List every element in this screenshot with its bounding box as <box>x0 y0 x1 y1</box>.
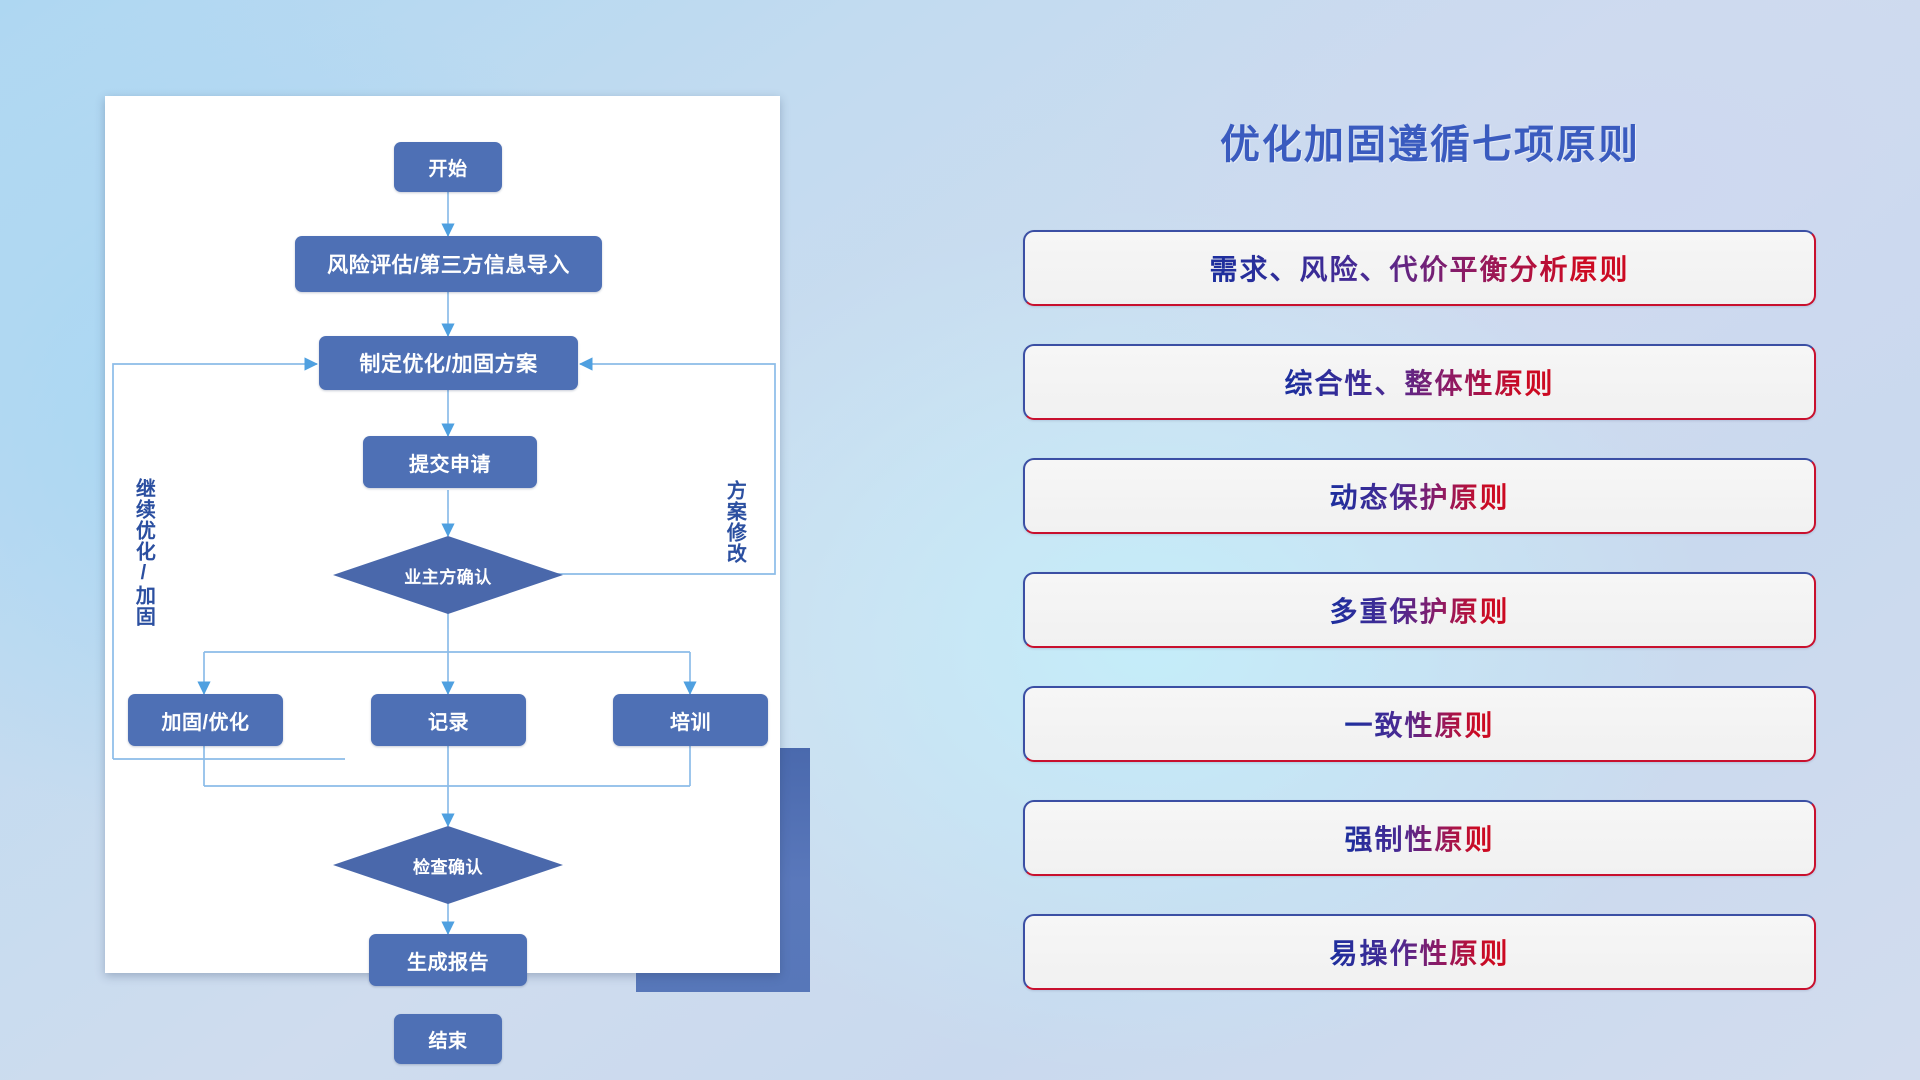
flow-node-generate-report-label: 生成报告 <box>407 946 489 975</box>
flow-decision-owner-confirm[interactable]: 业主方确认 <box>333 536 563 614</box>
flow-node-submit-application[interactable]: 提交申请 <box>363 436 537 488</box>
flow-node-reinforce[interactable]: 加固/优化 <box>128 694 283 746</box>
flow-node-submit-application-label: 提交申请 <box>409 448 491 477</box>
flow-node-start[interactable]: 开始 <box>394 142 502 192</box>
flow-node-make-plan[interactable]: 制定优化/加固方案 <box>319 336 578 390</box>
flow-node-start-label: 开始 <box>428 154 467 181</box>
principle-card[interactable]: 强制性原则 <box>1023 800 1816 876</box>
principle-label: 综合性、整体性原则 <box>1284 362 1554 402</box>
page-title: 优化加固遵循七项原则 <box>1030 112 1830 170</box>
principle-card[interactable]: 易操作性原则 <box>1023 914 1816 990</box>
principle-card[interactable]: 需求、风险、代价平衡分析原则 <box>1023 230 1816 306</box>
principle-label: 强制性原则 <box>1344 818 1494 858</box>
principle-label: 一致性原则 <box>1344 704 1494 744</box>
flow-node-training[interactable]: 培训 <box>613 694 768 746</box>
flow-node-end-label: 结束 <box>428 1026 467 1053</box>
principle-card[interactable]: 综合性、整体性原则 <box>1023 344 1816 420</box>
flowchart-panel: 开始 风险评估/第三方信息导入 制定优化/加固方案 提交申请 业主方确认 加固/… <box>105 96 780 973</box>
principle-card[interactable]: 动态保护原则 <box>1023 458 1816 534</box>
slide-canvas: 开始 风险评估/第三方信息导入 制定优化/加固方案 提交申请 业主方确认 加固/… <box>0 0 1920 1080</box>
principle-label: 动态保护原则 <box>1329 476 1509 516</box>
flow-decision-check-confirm[interactable]: 检查确认 <box>333 826 563 904</box>
principle-card[interactable]: 多重保护原则 <box>1023 572 1816 648</box>
flow-node-record-label: 记录 <box>428 706 469 735</box>
flow-decision-owner-confirm-label: 业主方确认 <box>404 563 492 588</box>
flow-node-reinforce-label: 加固/优化 <box>161 706 249 735</box>
flow-node-end[interactable]: 结束 <box>394 1014 502 1064</box>
principle-label: 需求、风险、代价平衡分析原则 <box>1209 248 1629 288</box>
flow-node-make-plan-label: 制定优化/加固方案 <box>359 348 537 378</box>
flow-node-training-label: 培训 <box>670 706 711 735</box>
principles-list: 需求、风险、代价平衡分析原则 综合性、整体性原则 动态保护原则 多重保护原则 一… <box>1023 230 1816 1028</box>
flow-edge-label-right-loop: 方案修改 <box>724 480 744 564</box>
flow-node-record[interactable]: 记录 <box>371 694 526 746</box>
flow-edge-label-left-loop: 继续优化/加固 <box>133 478 153 627</box>
principle-card[interactable]: 一致性原则 <box>1023 686 1816 762</box>
flow-node-generate-report[interactable]: 生成报告 <box>369 934 527 986</box>
principle-label: 易操作性原则 <box>1329 932 1509 972</box>
flow-node-risk-assessment[interactable]: 风险评估/第三方信息导入 <box>295 236 602 292</box>
flow-node-risk-assessment-label: 风险评估/第三方信息导入 <box>327 249 570 279</box>
principle-label: 多重保护原则 <box>1329 590 1509 630</box>
flow-decision-check-confirm-label: 检查确认 <box>413 853 483 878</box>
